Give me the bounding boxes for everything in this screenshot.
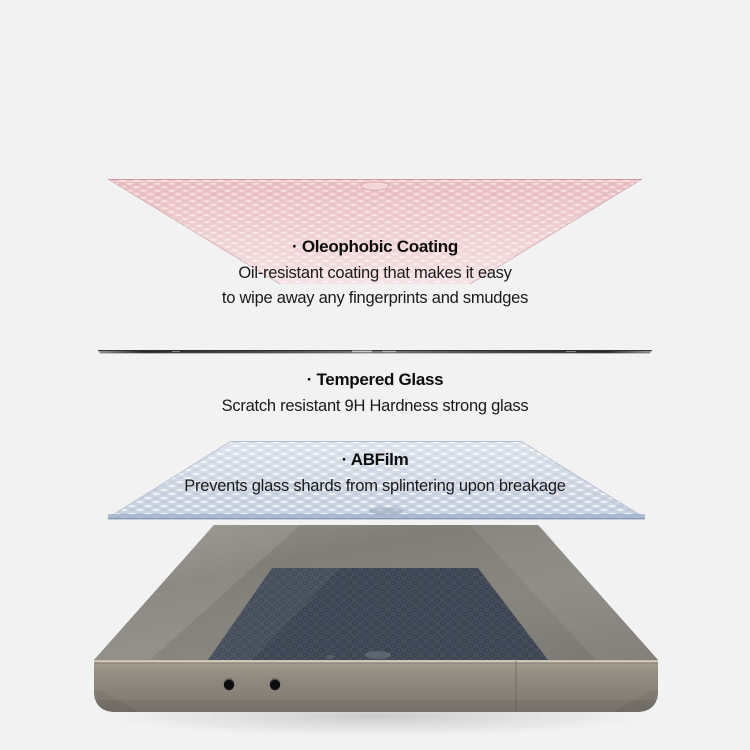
layer-tempered-glass (98, 350, 652, 353)
product-infographic: Multi-Layer Features Each layer serves a… (0, 0, 750, 750)
exploded-layer-diagram (0, 0, 750, 750)
